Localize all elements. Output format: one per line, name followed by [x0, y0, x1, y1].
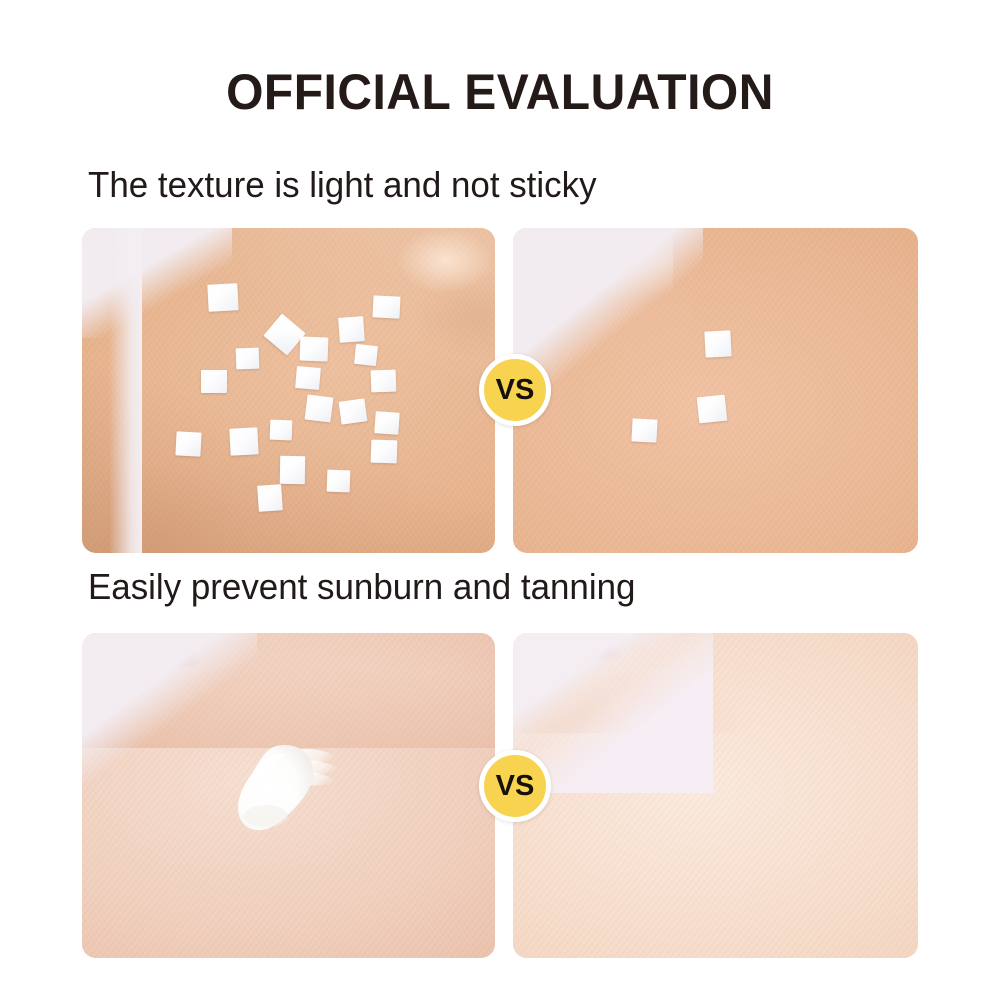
page-title: OFFICIAL EVALUATION [20, 63, 980, 121]
skin-flake [257, 484, 283, 512]
skin-flake [201, 370, 227, 393]
skin-flake [327, 470, 351, 493]
skin-flake [236, 348, 260, 370]
vs-badge-row-1: VS [479, 354, 551, 426]
skin-flake [371, 440, 398, 464]
section-2-caption: Easily prevent sunburn and tanning [88, 566, 635, 608]
vs-badge-label: VS [496, 772, 535, 801]
skin-flake [175, 431, 201, 456]
vs-badge-label: VS [496, 376, 535, 405]
skin-flake [339, 398, 368, 424]
comparison-photo-with-cream [82, 633, 495, 958]
photo-backdrop-corner [82, 633, 257, 783]
skin-flake [631, 418, 657, 442]
comparison-photo-bare-skin [513, 633, 918, 958]
skin-flake [697, 395, 728, 424]
vs-badge-row-2: VS [479, 750, 551, 822]
skin-flake [371, 370, 397, 393]
skin-flake [704, 330, 731, 357]
skin-flake [280, 456, 305, 484]
skin-flake [354, 344, 378, 366]
product-comparison-page: OFFICIAL EVALUATION The texture is light… [0, 0, 1000, 1000]
skin-flake [305, 395, 334, 423]
photo-backdrop-right [82, 228, 142, 553]
skin-flake [229, 427, 258, 455]
comparison-photo-few-flakes [513, 228, 918, 553]
skin-flake [374, 411, 399, 435]
section-1-caption: The texture is light and not sticky [88, 164, 597, 206]
skin-flake [372, 295, 400, 318]
skin-flake [300, 337, 329, 362]
skin-flake [338, 316, 365, 343]
skin-flake [295, 366, 321, 390]
skin-flake [270, 420, 293, 441]
comparison-photo-many-flakes [82, 228, 495, 553]
skin-flake [207, 283, 238, 312]
